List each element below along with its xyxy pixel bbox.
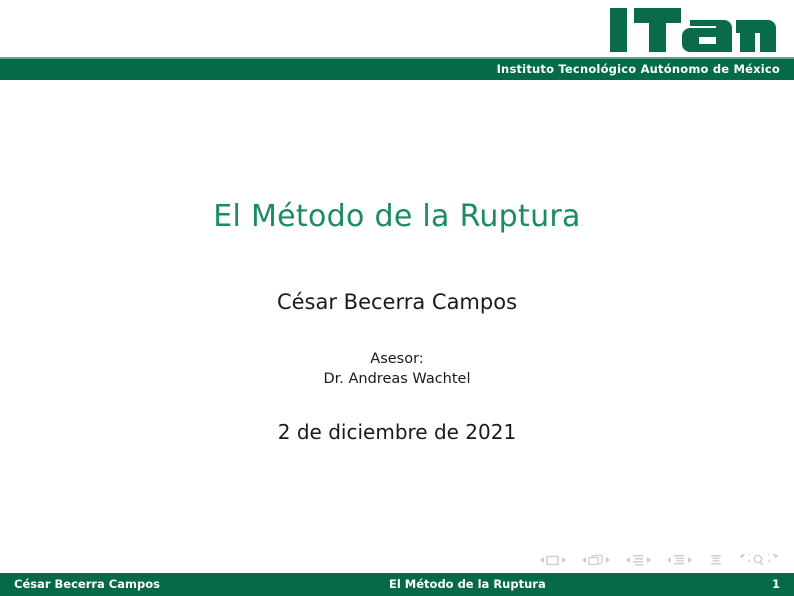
advisor-block: Asesor: Dr. Andreas Wachtel <box>0 349 794 389</box>
subsection-icon[interactable] <box>632 554 644 567</box>
page-title: El Método de la Ruptura <box>0 199 794 234</box>
footer-author: César Becerra Campos <box>14 573 374 596</box>
prev-subsection-arrow-icon[interactable] <box>626 557 630 563</box>
slide-footer: César Becerra Campos El Método de la Rup… <box>0 573 794 596</box>
document-icon[interactable] <box>710 554 722 567</box>
next-section-arrow-icon[interactable] <box>688 557 692 563</box>
next-subsection-arrow-icon[interactable] <box>647 557 651 563</box>
frame-icon[interactable] <box>588 554 603 567</box>
next-frame-arrow-icon[interactable] <box>606 557 610 563</box>
section-icon[interactable] <box>673 554 685 567</box>
subsection-nav-group[interactable] <box>623 554 653 567</box>
section-nav-group[interactable] <box>664 554 694 567</box>
itam-logo <box>608 6 776 54</box>
title-page-body: El Método de la Ruptura César Becerra Ca… <box>0 81 794 543</box>
advisor-label: Asesor: <box>0 349 794 369</box>
institution-name: Instituto Tecnológico Autónomo de México <box>497 59 780 80</box>
document-nav-group[interactable] <box>710 554 722 567</box>
next-slide-arrow-icon[interactable] <box>562 557 566 563</box>
slide-header: Instituto Tecnológico Autónomo de México <box>0 0 794 81</box>
frame-nav-group[interactable] <box>579 554 612 567</box>
beamer-navigation-bar[interactable] <box>537 550 780 570</box>
back-arrow-icon[interactable] <box>738 554 750 566</box>
header-band: Instituto Tecnológico Autónomo de México <box>0 59 794 80</box>
slide-icon[interactable] <box>546 555 559 566</box>
prev-section-arrow-icon[interactable] <box>667 557 671 563</box>
search-icon[interactable] <box>753 554 765 566</box>
presentation-slide: Instituto Tecnológico Autónomo de México… <box>0 0 794 596</box>
footer-title: El Método de la Ruptura <box>389 573 719 596</box>
presentation-date: 2 de diciembre de 2021 <box>0 420 794 444</box>
slide-nav-group[interactable] <box>537 555 568 566</box>
footer-page-number: 1 <box>720 573 780 596</box>
advisor-name: Dr. Andreas Wachtel <box>0 369 794 389</box>
author-name: César Becerra Campos <box>0 290 794 314</box>
prev-frame-arrow-icon[interactable] <box>582 557 586 563</box>
prev-slide-arrow-icon[interactable] <box>540 557 544 563</box>
history-nav-group[interactable] <box>738 554 780 566</box>
forward-arrow-icon[interactable] <box>768 554 780 566</box>
